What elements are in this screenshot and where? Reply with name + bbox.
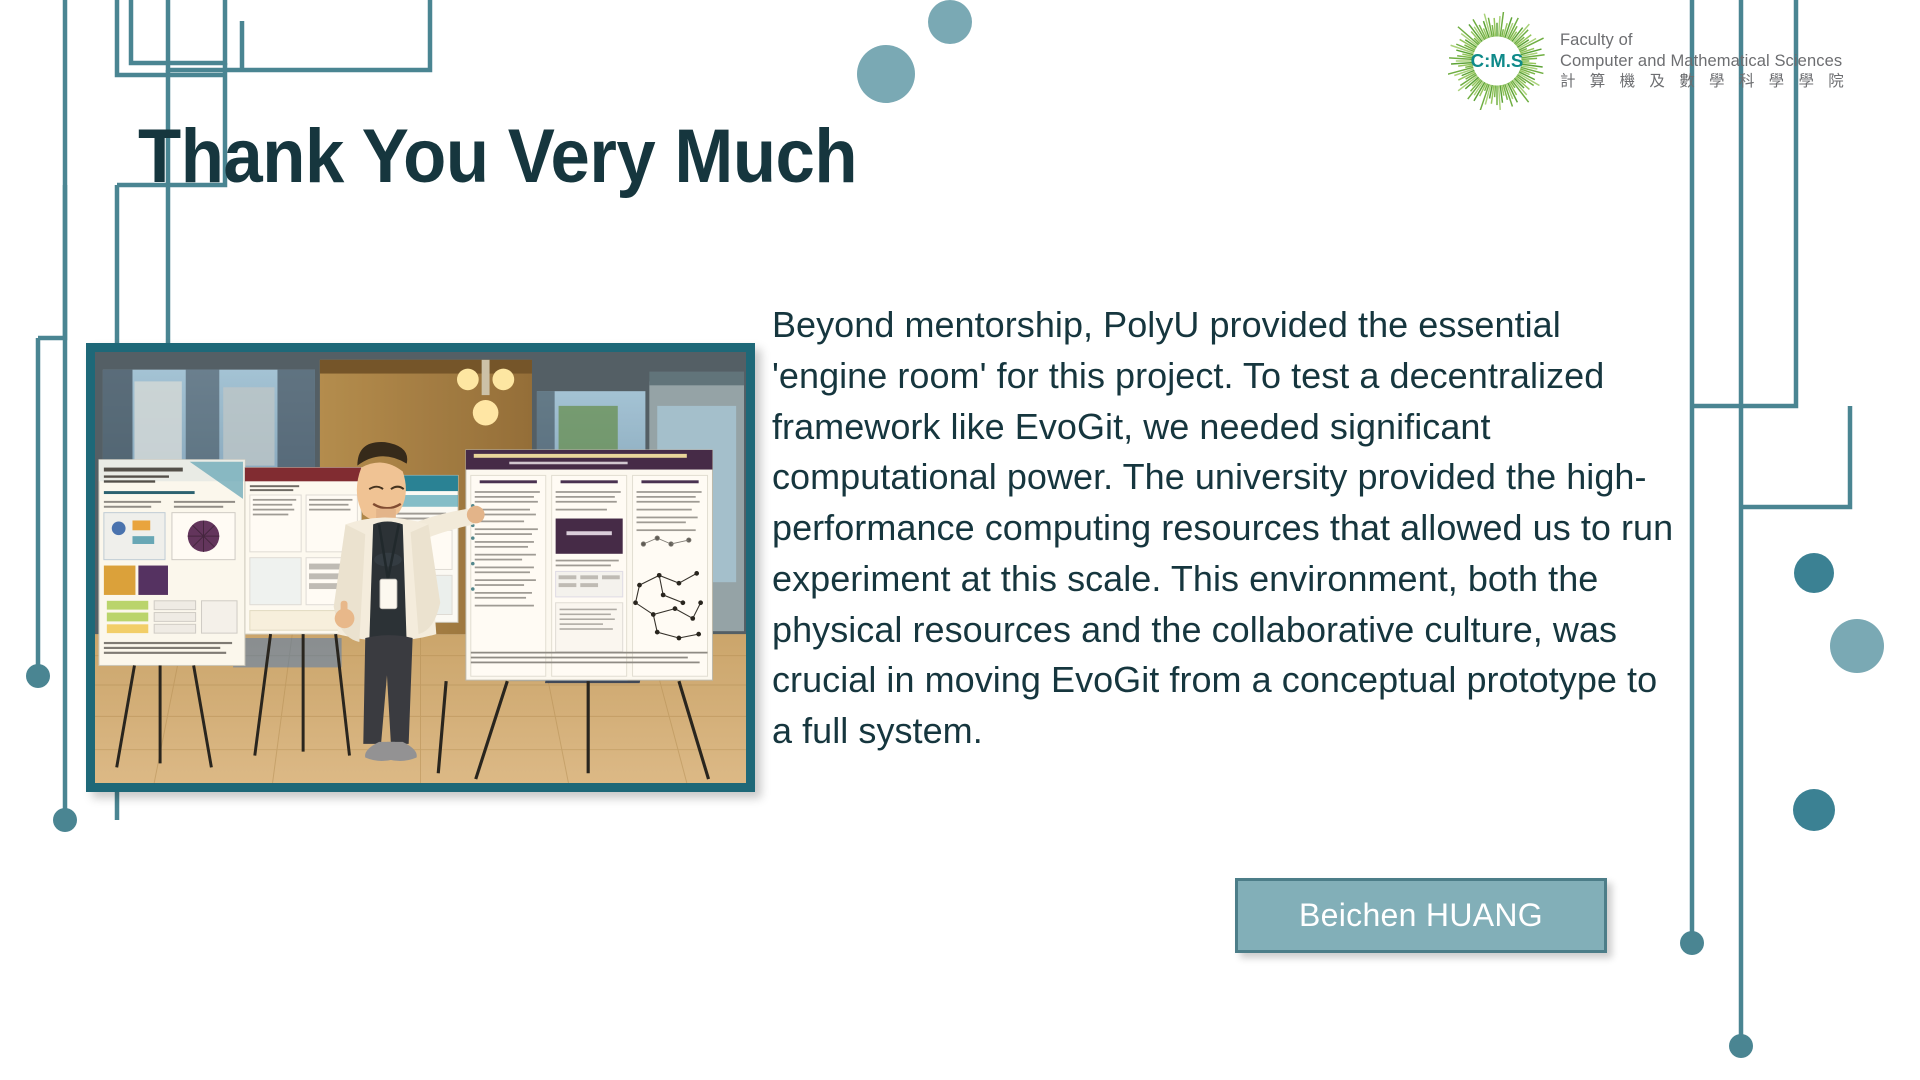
deco-line-rect <box>131 0 225 63</box>
dot-left-lower <box>53 808 77 832</box>
page-title: Thank You Very Much <box>138 117 857 198</box>
logo-line-chinese: 計 算 機 及 數 學 科 學 學 院 <box>1560 73 1849 92</box>
deco-line-rect-open <box>117 0 225 75</box>
deco-line-tl-square <box>168 0 430 70</box>
slide-canvas: C:M.S Faculty of Computer and Mathematic… <box>0 0 1920 1080</box>
dot-right-lower <box>1729 1034 1753 1058</box>
deco-line-right-branch2 <box>1741 406 1850 507</box>
circle-right-lower <box>1793 789 1835 831</box>
body-paragraph: Beyond mentorship, PolyU provided the es… <box>772 300 1684 757</box>
circle-right-upper <box>1794 553 1834 593</box>
dot-left-upper <box>26 664 50 688</box>
presenter-name: Beichen HUANG <box>1299 897 1543 934</box>
cms-logo-monogram: C:M.S <box>1471 50 1524 71</box>
faculty-logo: C:M.S Faculty of Computer and Mathematic… <box>1448 12 1849 110</box>
circle-right-middle <box>1830 619 1884 673</box>
dot-right-upper <box>1680 931 1704 955</box>
presentation-photo <box>86 343 755 792</box>
circle-top-large <box>857 45 915 103</box>
deco-line-left-bracket <box>38 0 65 338</box>
presenter-nameplate: Beichen HUANG <box>1235 878 1607 953</box>
circle-top-small <box>928 0 972 44</box>
cms-sunburst-logo-icon: C:M.S <box>1448 12 1546 110</box>
logo-line-faculty: Faculty of <box>1560 30 1849 50</box>
logo-line-department: Computer and Mathematical Sciences <box>1560 51 1849 71</box>
poster-session-photo-illustration <box>95 352 746 783</box>
